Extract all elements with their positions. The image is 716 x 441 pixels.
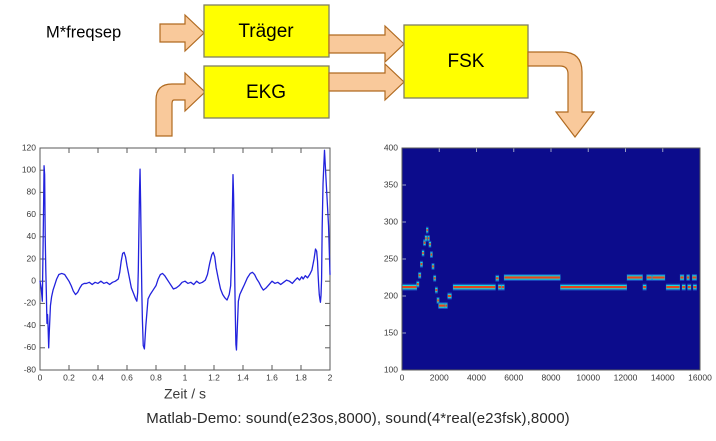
spectrogram-segment-core (431, 253, 432, 255)
caption-text: Matlab-Demo: sound(e23os,8000), sound(4*… (0, 410, 716, 427)
spectrogram-xtick-label: 4000 (467, 372, 486, 382)
spectrogram-xtick-label: 12000 (614, 372, 638, 382)
spectrogram-segment-core (666, 286, 679, 288)
ekg-xtick-label: 1.6 (266, 372, 278, 382)
arrow-ekg-to-fsk (329, 64, 404, 100)
spectrogram-segment-core (498, 286, 501, 288)
ekg-xtick-label: 0.2 (63, 372, 75, 382)
spectrogram-segment-core (693, 276, 697, 278)
spectrogram-segment-core (422, 252, 423, 254)
ekg-xtick-label: 1.4 (237, 372, 249, 382)
spectrogram-ytick-label: 350 (384, 179, 398, 189)
spectrogram-xtick-label: 8000 (542, 372, 561, 382)
spectrogram-segment-core (427, 229, 428, 231)
spectrogram-segment-core (417, 283, 419, 285)
ekg-ytick-label: 100 (22, 164, 36, 174)
slide-root: .abox{fill:#FFFF00;stroke:#808062;stroke… (0, 0, 716, 441)
spectrogram-segment-core (429, 243, 430, 245)
ekg-ytick-label: -40 (24, 320, 37, 330)
spectrogram-ytick-label: 300 (384, 216, 398, 226)
spectrogram-segment-core (432, 265, 434, 267)
spectrogram-segment-core (496, 277, 498, 279)
spectrogram-segment-core (419, 274, 421, 276)
spectrogram-xtick-label: 0 (400, 372, 405, 382)
spectrogram-image-area (402, 148, 700, 370)
spectrogram-xtick-label: 6000 (504, 372, 523, 382)
fsk-spectrogram-chart: 1001502002503003504000200040006000800010… (370, 140, 714, 398)
spectrogram-segment-core (682, 286, 685, 288)
ekg-xtick-label: 1.8 (295, 372, 307, 382)
box-ekg-label: EKG (246, 82, 286, 103)
spectrogram-segment-core (434, 277, 436, 279)
spectrogram-segment-core (693, 286, 696, 288)
spectrogram-segment-core (647, 276, 652, 278)
ekg-ytick-label: -80 (24, 364, 37, 374)
spectrogram-ytick-label: 200 (384, 290, 398, 300)
spectrogram-segment-core (561, 286, 627, 288)
spectrogram-segment-core (421, 263, 423, 265)
box-fsk-label: FSK (448, 51, 485, 72)
spectrogram-segment-core (425, 237, 426, 239)
spectrogram-segment-core (402, 286, 417, 288)
ekg-xtick-label: 0.8 (150, 372, 162, 382)
spectrogram-segment-core (428, 237, 429, 239)
ekg-xtick-label: 1 (183, 372, 188, 382)
arrow-traeger-to-fsk (329, 26, 404, 62)
spectrogram-xtick-label: 14000 (651, 372, 675, 382)
spectrogram-segment-core (653, 276, 665, 278)
spectrogram-segment-core (504, 276, 560, 278)
input-label: M*freqsep (46, 23, 121, 41)
spectrogram-segment-core (502, 286, 504, 288)
spectrogram-segment-core (424, 242, 425, 244)
spectrogram-segment-core (680, 276, 683, 278)
spectrogram-segment-core (448, 295, 451, 297)
ekg-ytick-label: 20 (27, 253, 37, 263)
spectrogram-segment-core (453, 286, 495, 288)
ekg-xtick-label: 2 (328, 372, 333, 382)
ekg-ytick-label: 80 (27, 187, 37, 197)
box-traeger-label: Träger (238, 21, 294, 42)
spectrogram-ytick-label: 400 (384, 142, 398, 152)
ekg-ytick-label: 120 (22, 142, 36, 152)
ekg-chart: -80-60-40-2002040608010012000.20.40.60.8… (8, 140, 360, 408)
ekg-ytick-label: -20 (24, 298, 37, 308)
ekg-ytick-label: 40 (27, 231, 37, 241)
spectrogram-xtick-label: 16000 (688, 372, 712, 382)
ekg-xtick-label: 1.2 (208, 372, 220, 382)
spectrogram-segment-core (687, 276, 689, 278)
ekg-xaxis-title: Zeit / s (164, 385, 206, 401)
spectrogram-ytick-label: 100 (384, 364, 398, 374)
ekg-xtick-label: 0.6 (121, 372, 133, 382)
ekg-ytick-label: 60 (27, 209, 37, 219)
spectrogram-xtick-label: 10000 (576, 372, 600, 382)
arrow-fsk-output (528, 52, 594, 137)
ekg-xtick-label: 0.4 (92, 372, 104, 382)
spectrogram-segment-core (436, 289, 438, 291)
spectrogram-ytick-label: 250 (384, 253, 398, 263)
ekg-ytick-label: 0 (31, 275, 36, 285)
spectrogram-xtick-label: 2000 (430, 372, 449, 382)
spectrogram-segment-core (439, 305, 445, 307)
arrow-input-to-traeger (160, 15, 204, 51)
ekg-ytick-label: -60 (24, 342, 37, 352)
spectrogram-segment-core (445, 305, 447, 307)
ekg-xtick-label: 0 (38, 372, 43, 382)
spectrogram-segment-core (627, 276, 642, 278)
spectrogram-segment-core (437, 299, 439, 301)
spectrogram-segment-core (643, 286, 646, 288)
arrow-feedback-to-ekg (156, 73, 205, 136)
spectrogram-ytick-label: 150 (384, 327, 398, 337)
block-diagram: .abox{fill:#FFFF00;stroke:#808062;stroke… (0, 0, 716, 140)
spectrogram-segment-core (688, 286, 691, 288)
